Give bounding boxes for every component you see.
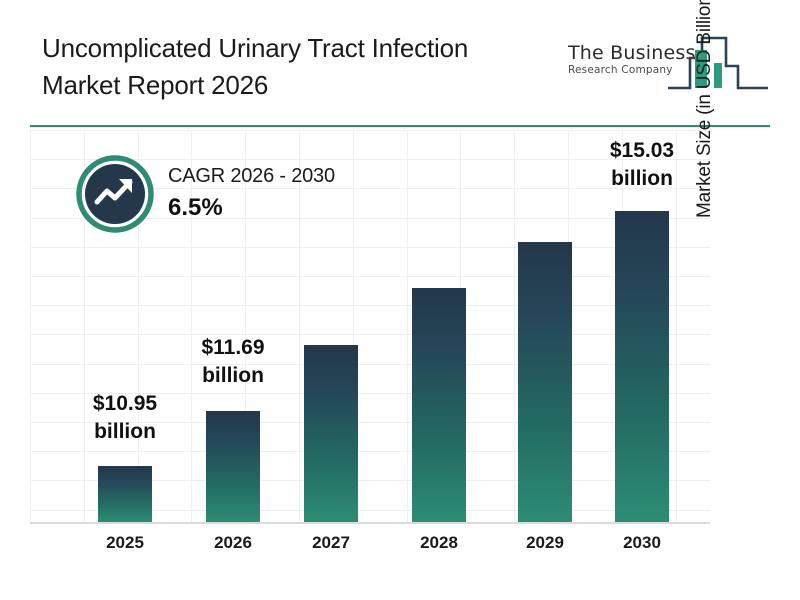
x-axis-tick-2028: 2028 <box>394 533 484 553</box>
cagr-value-label: 6.5% <box>168 191 416 225</box>
trending-up-icon <box>76 155 154 233</box>
bar-2025[interactable] <box>98 466 152 522</box>
x-axis-tick-2029: 2029 <box>500 533 590 553</box>
x-axis-tick-2026: 2026 <box>188 533 278 553</box>
bar-2029[interactable] <box>518 242 572 522</box>
y-axis-title: Market Size (in USD Billion) <box>694 0 716 218</box>
value-label-2025: $10.95billion <box>65 390 185 446</box>
bar-2027[interactable] <box>304 345 358 522</box>
cagr-range-label: CAGR 2026 - 2030 <box>168 161 416 191</box>
x-axis-tick-2030: 2030 <box>597 533 687 553</box>
cagr-text-block: CAGR 2026 - 2030 6.5% <box>168 161 416 225</box>
value-label-2026: $11.69billion <box>173 334 293 390</box>
x-axis-tick-2025: 2025 <box>80 533 170 553</box>
x-axis-tick-2027: 2027 <box>286 533 376 553</box>
bar-2028[interactable] <box>412 288 466 522</box>
bar-2026[interactable] <box>206 411 260 522</box>
bar-2030[interactable] <box>615 211 669 522</box>
chart-page: Uncomplicated Urinary Tract Infection Ma… <box>0 0 800 600</box>
value-label-2030: $15.03billion <box>582 137 702 193</box>
bar-series: $10.95billion$11.69billion$15.03billion2… <box>0 0 800 600</box>
cagr-badge: CAGR 2026 - 2030 6.5% <box>76 155 416 241</box>
